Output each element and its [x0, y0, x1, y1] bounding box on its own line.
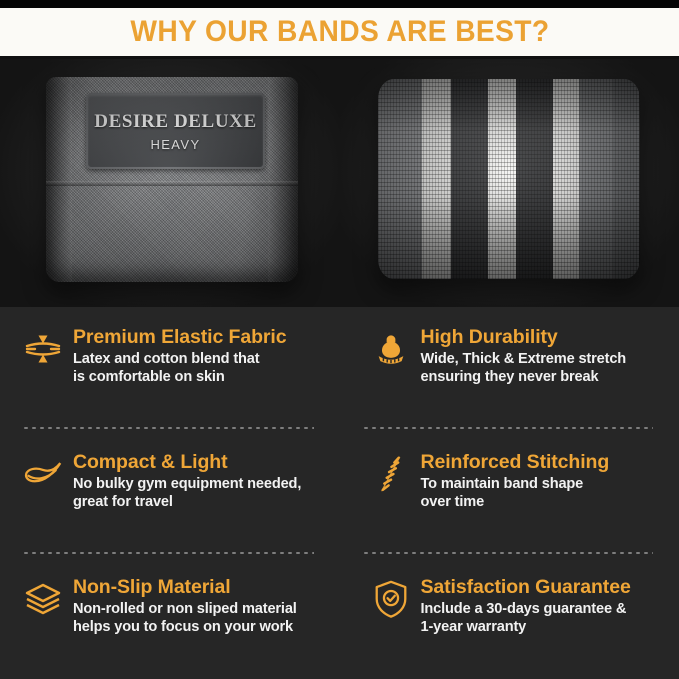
feature-description: Latex and cotton blend that is comfortab…: [73, 350, 286, 387]
folded-band-image: DESIRE DELUXE HEAVY: [46, 77, 298, 282]
feature-title: Non-Slip Material: [73, 577, 297, 598]
striped-band-image: [378, 79, 640, 279]
shield-check-icon: [370, 578, 412, 620]
feature-desc-line: ensuring they never break: [421, 368, 627, 386]
feature-desc-line: great for travel: [73, 493, 301, 511]
feature-description: No bulky gym equipment needed, great for…: [73, 475, 301, 512]
kettlebell-icon: [370, 328, 412, 370]
feature-title: Compact & Light: [73, 452, 301, 473]
layers-icon: [22, 578, 64, 620]
band-left-edge: [46, 77, 72, 282]
feature-text: Non-Slip Material Non-rolled or non slip…: [73, 576, 297, 637]
feature-reinforced-stitching: Reinforced Stitching To maintain band sh…: [340, 429, 679, 554]
feature-non-slip-material: Non-Slip Material Non-rolled or non slip…: [0, 554, 340, 679]
feature-desc-line: helps you to focus on your work: [73, 618, 297, 636]
feather-icon: [22, 453, 64, 495]
feature-desc-line: over time: [421, 493, 610, 511]
band-fold-line: [46, 181, 298, 186]
feature-text: Compact & Light No bulky gym equipment n…: [73, 451, 301, 512]
feature-desc-line: Latex and cotton blend that: [73, 350, 286, 368]
feature-desc-line: Wide, Thick & Extreme stretch: [421, 350, 627, 368]
infographic-page: WHY OUR BANDS ARE BEST? DESIRE DELUXE HE…: [0, 0, 679, 679]
resistance-level: HEAVY: [150, 137, 200, 152]
feature-desc-line: 1-year warranty: [421, 618, 631, 636]
feature-title: Premium Elastic Fabric: [73, 327, 286, 348]
top-black-strip: [0, 0, 679, 8]
roll-shading: [378, 79, 640, 279]
brand-label-plate: DESIRE DELUXE HEAVY: [86, 93, 265, 169]
feature-description: Wide, Thick & Extreme stretch ensuring t…: [421, 350, 627, 387]
feature-desc-line: Include a 30-days guarantee &: [421, 600, 631, 618]
header-banner: WHY OUR BANDS ARE BEST?: [0, 8, 679, 59]
brand-name: DESIRE DELUXE: [94, 111, 256, 133]
features-grid: Premium Elastic Fabric Latex and cotton …: [0, 304, 679, 679]
product-photo-left: DESIRE DELUXE HEAVY: [0, 59, 340, 307]
feature-description: Non-rolled or non sliped material helps …: [73, 600, 297, 637]
feature-title: Reinforced Stitching: [421, 452, 610, 473]
feature-text: High Durability Wide, Thick & Extreme st…: [421, 326, 627, 387]
feature-title: Satisfaction Guarantee: [421, 577, 631, 598]
feature-desc-line: No bulky gym equipment needed,: [73, 475, 301, 493]
elastic-stretch-icon: [22, 328, 64, 370]
feature-text: Reinforced Stitching To maintain band sh…: [421, 451, 610, 512]
feature-compact-and-light: Compact & Light No bulky gym equipment n…: [0, 429, 340, 554]
feature-title: High Durability: [421, 327, 627, 348]
product-photo-right: [340, 59, 679, 307]
feature-text: Premium Elastic Fabric Latex and cotton …: [73, 326, 286, 387]
product-photo-row: DESIRE DELUXE HEAVY: [0, 59, 679, 307]
feature-text: Satisfaction Guarantee Include a 30-days…: [421, 576, 631, 637]
feature-high-durability: High Durability Wide, Thick & Extreme st…: [340, 304, 679, 429]
feature-desc-line: is comfortable on skin: [73, 368, 286, 386]
feature-description: Include a 30-days guarantee & 1-year war…: [421, 600, 631, 637]
feature-description: To maintain band shape over time: [421, 475, 610, 512]
feature-desc-line: To maintain band shape: [421, 475, 610, 493]
feature-satisfaction-guarantee: Satisfaction Guarantee Include a 30-days…: [340, 554, 679, 679]
band-right-edge: [268, 77, 298, 282]
feature-premium-elastic-fabric: Premium Elastic Fabric Latex and cotton …: [0, 304, 340, 429]
stitching-icon: [370, 453, 412, 495]
feature-desc-line: Non-rolled or non sliped material: [73, 600, 297, 618]
page-title: WHY OUR BANDS ARE BEST?: [130, 15, 549, 49]
